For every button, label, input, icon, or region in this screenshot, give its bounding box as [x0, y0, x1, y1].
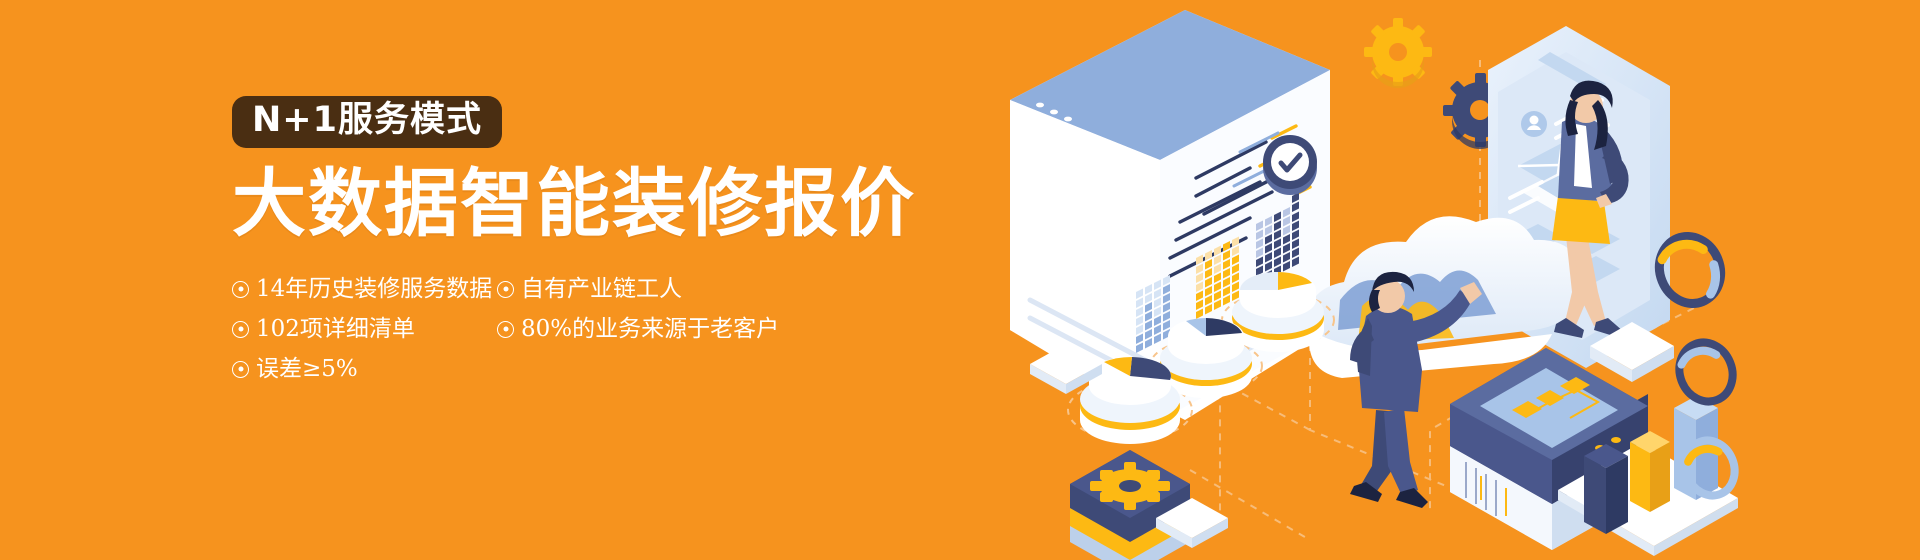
list-item-label: 102项详细清单 — [256, 318, 415, 341]
page-title: 大数据智能装修报价 — [232, 166, 1012, 244]
hexagon-stack-gear — [1070, 450, 1190, 560]
list-item-label: 自有产业链工人 — [521, 278, 682, 301]
promo-banner: N+1服务模式 大数据智能装修报价 14年历史装修服务数据 102项详细清单 误… — [0, 0, 1920, 560]
gear-yellow — [1364, 18, 1432, 88]
check-badge — [1263, 135, 1317, 195]
circled-dot-icon — [497, 281, 514, 298]
circled-dot-icon — [232, 281, 249, 298]
isometric-illustration — [1010, 0, 1920, 560]
profile-avatar — [1521, 111, 1547, 137]
list-item-label: 14年历史装修服务数据 — [256, 278, 492, 301]
feature-bullet-list: 14年历史装修服务数据 102项详细清单 误差≥5% 自有产业链工人 80%的业… — [232, 269, 1012, 389]
list-item: 14年历史装修服务数据 — [232, 278, 497, 301]
list-item: 102项详细清单 — [232, 318, 497, 341]
list-item-label: 80%的业务来源于老客户 — [521, 318, 779, 341]
donut-ring — [1671, 334, 1742, 409]
banner-copy: N+1服务模式 大数据智能装修报价 14年历史装修服务数据 102项详细清单 误… — [232, 96, 1012, 389]
circled-dot-icon — [497, 321, 514, 338]
list-item: 自有产业链工人 — [497, 278, 1012, 301]
list-item: 误差≥5% — [232, 358, 497, 381]
list-item-label: 误差≥5% — [256, 358, 358, 381]
service-mode-badge: N+1服务模式 — [232, 96, 502, 148]
circled-dot-icon — [232, 321, 249, 338]
circled-dot-icon — [232, 361, 249, 378]
list-item: 80%的业务来源于老客户 — [497, 318, 1012, 341]
